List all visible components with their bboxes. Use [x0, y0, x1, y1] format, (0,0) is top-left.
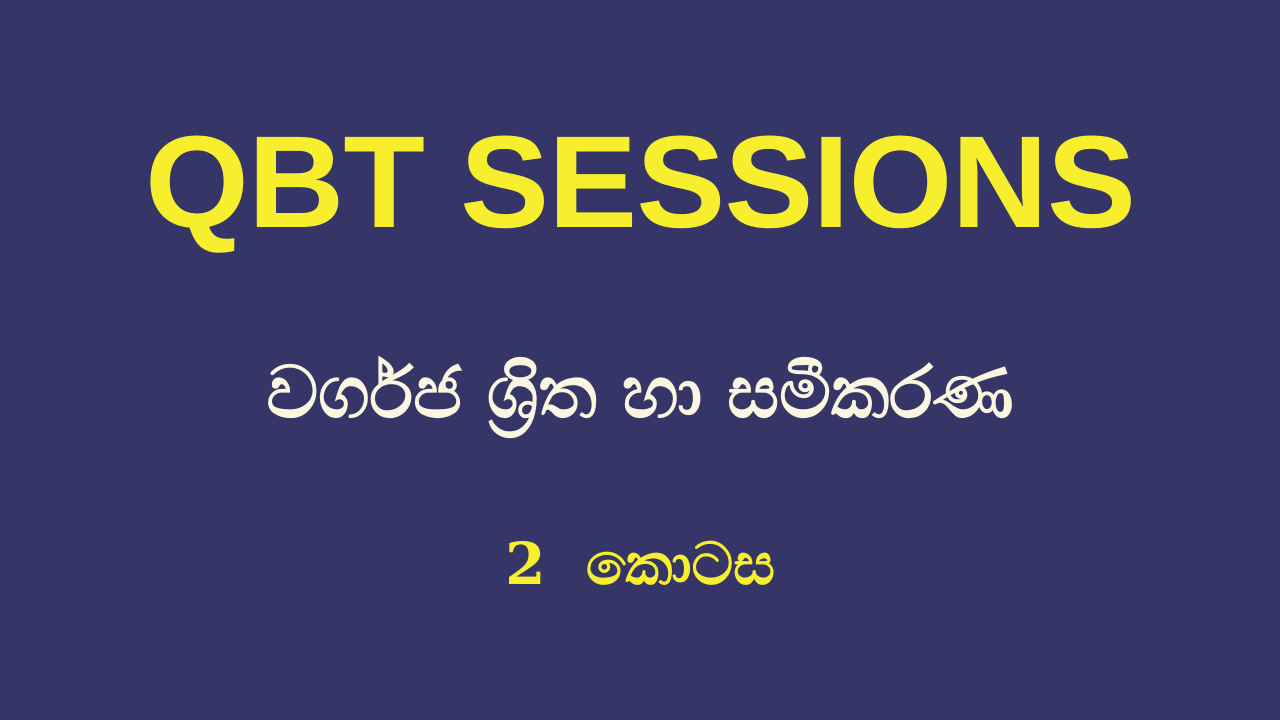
title-slide: QBT SESSIONS වර්ගජ ශ්‍රිත හා සමීකරණ 2 කො… — [0, 0, 1280, 720]
part-indicator: 2 කොටස — [0, 530, 1280, 600]
subtitle-topic: වර්ගජ ශ්‍රිත හා සමීකරණ — [0, 349, 1280, 435]
part-spacer — [545, 530, 585, 598]
part-number: 2 — [505, 530, 545, 598]
page-title: QBT SESSIONS — [0, 116, 1280, 247]
part-label: කොටස — [586, 530, 775, 598]
